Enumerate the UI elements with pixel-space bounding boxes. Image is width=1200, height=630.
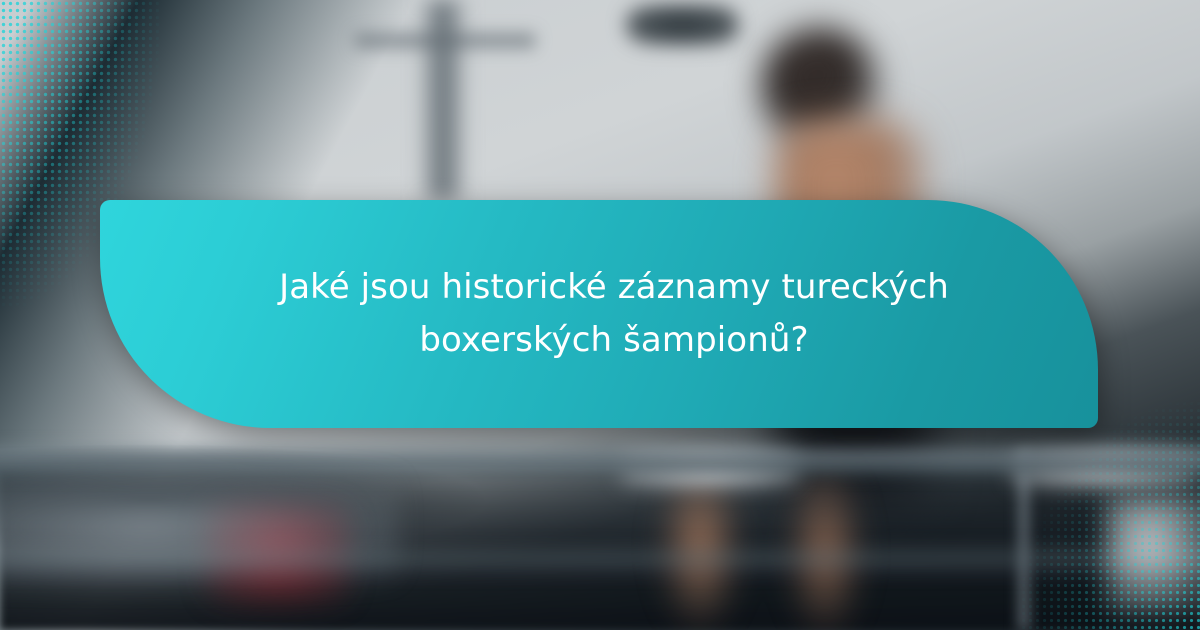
blurred-ceiling-pole (420, 0, 466, 200)
blurred-ceiling-hook (625, 4, 740, 46)
question-banner: Jaké jsou historické záznamy tureckých b… (100, 200, 1098, 428)
blurred-light-patch-left (0, 470, 400, 585)
question-text: Jaké jsou historické záznamy tureckých b… (240, 261, 988, 366)
og-image-canvas: Jaké jsou historické záznamy tureckých b… (0, 0, 1200, 630)
blurred-light-patch-right (1105, 495, 1200, 615)
